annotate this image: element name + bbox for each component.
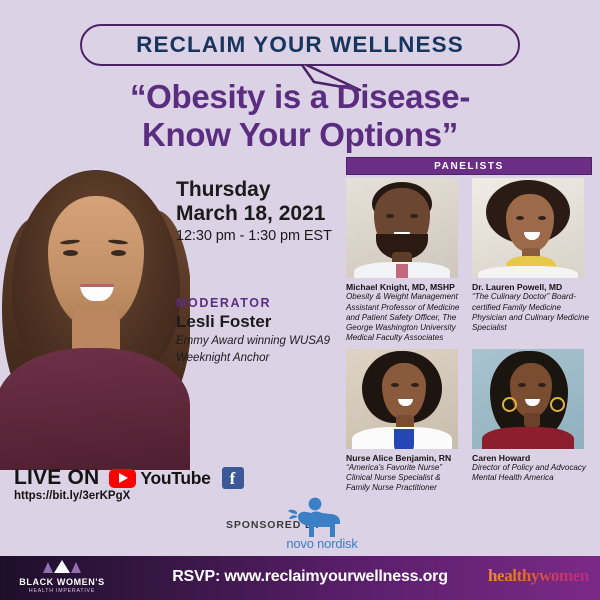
panelist-name: Nurse Alice Benjamin, RN bbox=[346, 453, 464, 463]
youtube-icon[interactable] bbox=[109, 469, 136, 488]
panelist-caption: Dr. Lauren Powell, MD “The Culinary Doct… bbox=[472, 282, 590, 333]
bwhi-crown-icon bbox=[16, 560, 108, 574]
panelist-title: Director of Policy and Advocacy Mental H… bbox=[472, 463, 590, 483]
moderator-role-line-2: Weeknight Anchor bbox=[176, 351, 348, 366]
panelists-header-label: PANELISTS bbox=[434, 161, 504, 172]
headshot-michael-knight bbox=[346, 178, 458, 278]
facebook-glyph: f bbox=[230, 470, 236, 487]
event-date: March 18, 2021 bbox=[176, 202, 348, 226]
panelist-card: Michael Knight, MD, MSHP Obesity & Weigh… bbox=[346, 178, 466, 343]
panelists-row-2: Nurse Alice Benjamin, RN “America’s Favo… bbox=[346, 349, 592, 494]
title-banner: RECLAIM YOUR WELLNESS bbox=[80, 24, 520, 66]
live-stream-url[interactable]: https://bit.ly/3erKPgX bbox=[14, 490, 130, 502]
banner-bubble: RECLAIM YOUR WELLNESS bbox=[80, 24, 520, 66]
panelist-caption: Caren Howard Director of Policy and Advo… bbox=[472, 453, 590, 484]
panelist-caption: Nurse Alice Benjamin, RN “America’s Favo… bbox=[346, 453, 464, 494]
facebook-icon[interactable]: f bbox=[222, 467, 244, 489]
moderator-photo bbox=[0, 148, 190, 470]
panelist-card: Caren Howard Director of Policy and Advo… bbox=[472, 349, 592, 494]
event-details: Thursday March 18, 2021 12:30 pm - 1:30 … bbox=[176, 178, 348, 244]
event-day: Thursday bbox=[176, 178, 348, 202]
panelist-card: Nurse Alice Benjamin, RN “America’s Favo… bbox=[346, 349, 466, 494]
moderator-role-line-1: Emmy Award winning WUSA9 bbox=[176, 334, 348, 349]
panelists-grid: Michael Knight, MD, MSHP Obesity & Weigh… bbox=[346, 178, 592, 493]
panelist-name: Dr. Lauren Powell, MD bbox=[472, 282, 590, 292]
panelists-row-1: Michael Knight, MD, MSHP Obesity & Weigh… bbox=[346, 178, 592, 343]
rsvp-text[interactable]: RSVP: www.reclaimyourwellness.org bbox=[150, 568, 470, 586]
promo-poster: RECLAIM YOUR WELLNESS “Obesity is a Dise… bbox=[0, 0, 600, 600]
headshot-alice-benjamin bbox=[346, 349, 458, 449]
youtube-label[interactable]: YouTube bbox=[140, 468, 210, 489]
moderator-name: Lesli Foster bbox=[176, 312, 348, 332]
live-on-block: LIVE ON YouTube f bbox=[14, 466, 244, 490]
event-time: 12:30 pm - 1:30 pm EST bbox=[176, 228, 348, 244]
panelist-title: “America’s Favorite Nurse” Clinical Nurs… bbox=[346, 463, 464, 493]
headshot-caren-howard bbox=[472, 349, 584, 449]
novo-nordisk-wordmark: novo nordisk bbox=[270, 536, 374, 551]
healthywomen-logo: healthywomen bbox=[488, 566, 589, 586]
live-on-label: LIVE ON bbox=[14, 466, 99, 490]
panelist-caption: Michael Knight, MD, MSHP Obesity & Weigh… bbox=[346, 282, 464, 343]
moderator-block: MODERATOR Lesli Foster Emmy Award winnin… bbox=[176, 296, 348, 365]
headline: “Obesity is a Disease- Know Your Options… bbox=[0, 78, 600, 153]
moderator-label: MODERATOR bbox=[176, 296, 348, 310]
bwhi-subtitle: HEALTH IMPERATIVE bbox=[16, 588, 108, 594]
headshot-lauren-powell bbox=[472, 178, 584, 278]
panelist-name: Michael Knight, MD, MSHP bbox=[346, 282, 464, 292]
bwhi-logo: BLACK WOMEN'S HEALTH IMPERATIVE bbox=[16, 560, 108, 594]
banner-title: RECLAIM YOUR WELLNESS bbox=[136, 32, 464, 58]
headline-line-1: “Obesity is a Disease- bbox=[0, 78, 600, 116]
panelist-title: “The Culinary Doctor” Board-certified Fa… bbox=[472, 292, 590, 332]
panelist-title: Obesity & Weight Management Assistant Pr… bbox=[346, 292, 464, 342]
panelist-name: Caren Howard bbox=[472, 453, 590, 463]
panelists-header-bar: PANELISTS bbox=[346, 157, 592, 175]
panelist-card: Dr. Lauren Powell, MD “The Culinary Doct… bbox=[472, 178, 592, 343]
bwhi-name: BLACK WOMEN'S bbox=[16, 577, 108, 587]
